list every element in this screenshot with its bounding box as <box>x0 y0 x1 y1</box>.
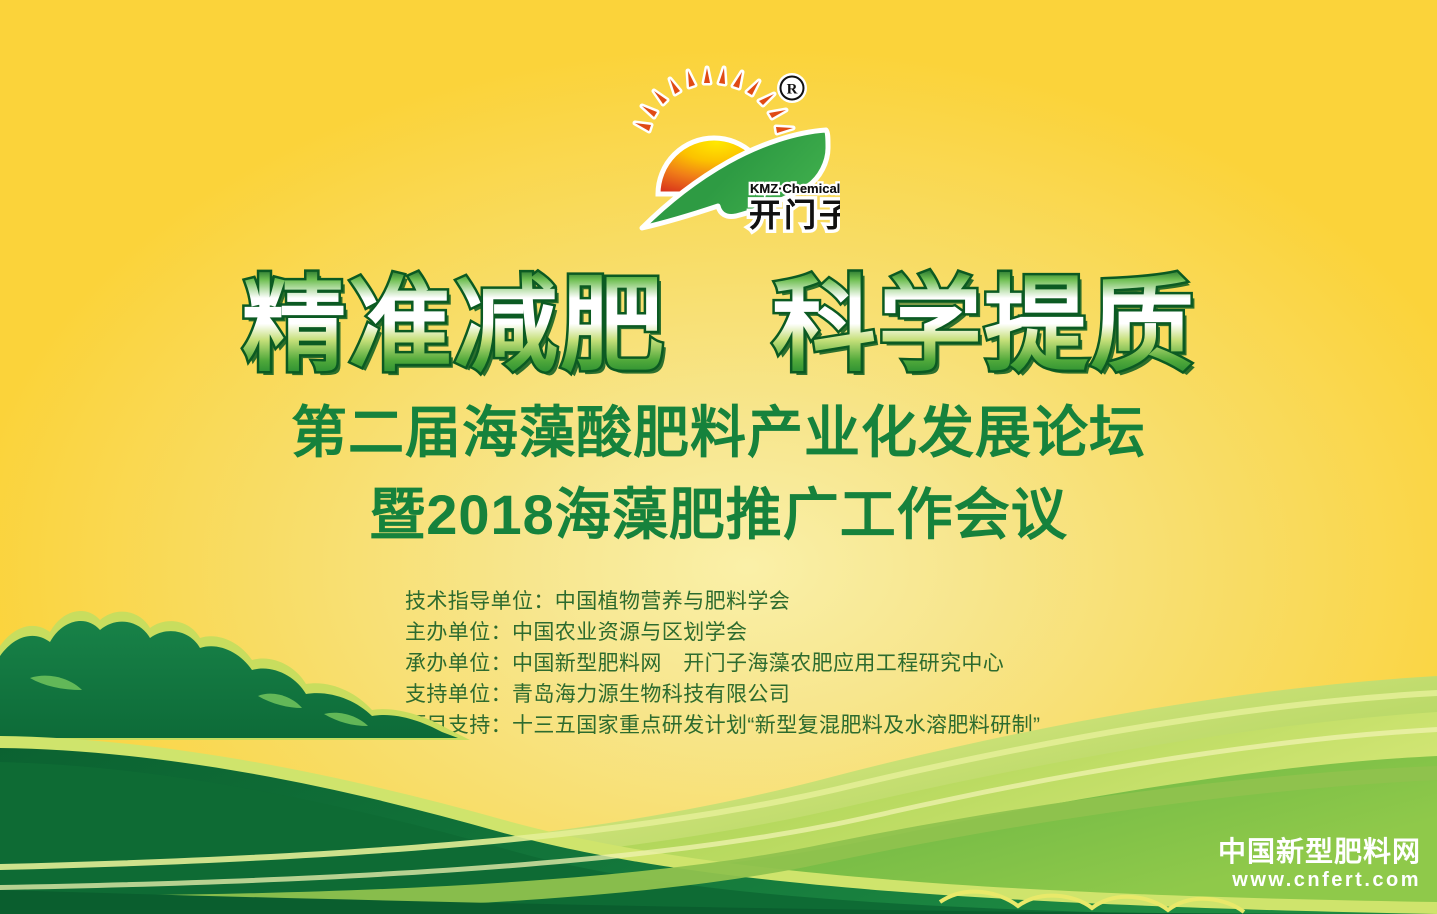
site-watermark: 中国新型肥料网 www.cnfert.com <box>1218 836 1421 892</box>
subtitle-line-2: 暨2018海藻肥推广工作会议 <box>0 482 1437 548</box>
mountain-ridge <box>0 621 458 738</box>
svg-text:开门子: 开门子 <box>749 197 840 233</box>
company-logo: R KMZ·Chemical KMZ·Chemical 开门子 开门子 <box>620 62 840 242</box>
watermark-site-url: www.cnfert.com <box>1218 868 1421 892</box>
svg-text:KMZ·Chemical: KMZ·Chemical <box>750 181 840 196</box>
headline-text: 精准减肥 科学提质 <box>241 268 1195 384</box>
poster-headline: 精准减肥 科学提质 精准减肥 科学提质 <box>0 265 1437 390</box>
logo-brand-text: KMZ·Chemical KMZ·Chemical 开门子 开门子 <box>749 181 840 233</box>
registered-trademark-icon: R <box>777 73 807 103</box>
svg-text:R: R <box>787 82 798 98</box>
watermark-site-name: 中国新型肥料网 <box>1218 836 1421 868</box>
sun-rays-icon <box>635 68 793 133</box>
conference-poster: R KMZ·Chemical KMZ·Chemical 开门子 开门子 <box>0 0 1437 914</box>
subtitle-line-1: 第二届海藻酸肥料产业化发展论坛 <box>0 400 1437 466</box>
